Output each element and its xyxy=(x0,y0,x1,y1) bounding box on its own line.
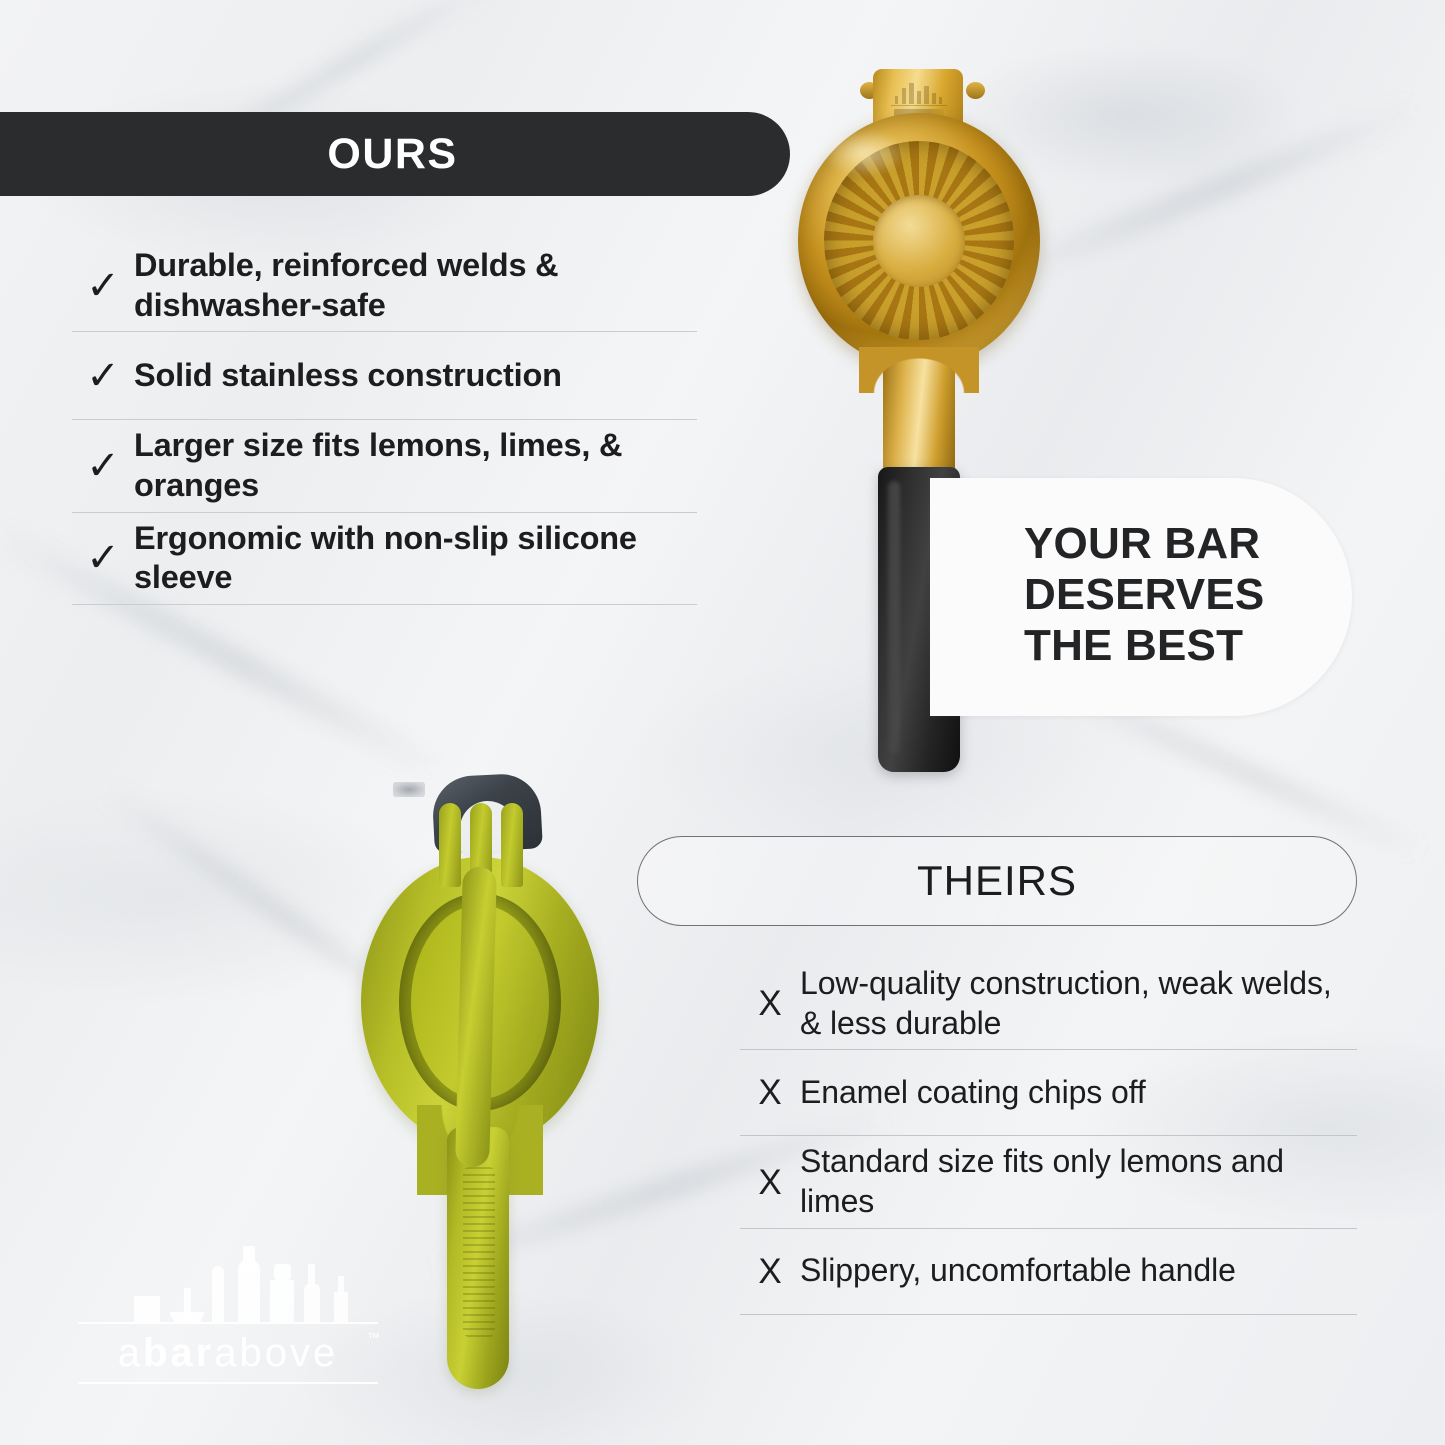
ours-header-banner: OURS xyxy=(0,112,790,196)
list-item: X Standard size fits only lemons and lim… xyxy=(740,1136,1357,1228)
list-item: X Low-quality construction, weak welds, … xyxy=(740,958,1357,1050)
green-lemon-squeezer-image xyxy=(355,775,605,1395)
logo-divider-top xyxy=(78,1322,378,1324)
check-icon: ✓ xyxy=(72,356,134,396)
list-item-label: Standard size fits only lemons and limes xyxy=(800,1142,1357,1221)
tagline-callout-badge: YOUR BAR DESERVES THE BEST xyxy=(930,478,1352,716)
tagline-text: YOUR BAR DESERVES THE BEST xyxy=(1024,518,1264,671)
list-item-label: Slippery, uncomfortable handle xyxy=(800,1251,1236,1291)
list-item-label: Larger size fits lemons, limes, & orange… xyxy=(134,426,697,505)
list-item: X Enamel coating chips off xyxy=(740,1050,1357,1136)
x-icon: X xyxy=(740,1165,800,1200)
hinge-logo-icon xyxy=(393,782,425,797)
check-icon: ✓ xyxy=(72,266,134,306)
tagline-line-3: THE BEST xyxy=(1024,620,1264,671)
tagline-line-2: DESERVES xyxy=(1024,569,1264,620)
list-item-label: Durable, reinforced welds & dishwasher-s… xyxy=(134,246,697,325)
theirs-header-label: THEIRS xyxy=(917,857,1077,905)
ours-header-label: OURS xyxy=(327,130,457,179)
list-item: ✓ Durable, reinforced welds & dishwasher… xyxy=(72,240,697,332)
x-icon: X xyxy=(740,1075,800,1110)
check-icon: ✓ xyxy=(72,538,134,578)
brand-logo: abarabove ™ xyxy=(78,1258,378,1390)
list-item-label: Enamel coating chips off xyxy=(800,1073,1146,1113)
barware-silhouettes-icon xyxy=(78,1258,378,1322)
logo-word-a: a xyxy=(118,1331,143,1375)
logo-wordmark: abarabove xyxy=(78,1328,378,1378)
squeezer-neck xyxy=(883,355,955,485)
hinge-pin-right-icon xyxy=(966,82,985,99)
list-item: ✓ Solid stainless construction xyxy=(72,332,697,420)
product-comparison-infographic: OURS ✓ Durable, reinforced welds & dishw… xyxy=(0,0,1445,1445)
green-handle xyxy=(447,1127,509,1389)
logo-word-bar: bar xyxy=(143,1331,214,1375)
list-item-label: Ergonomic with non-slip silicone sleeve xyxy=(134,519,697,598)
bowl-highlight xyxy=(822,129,906,177)
theirs-drawback-list: X Low-quality construction, weak welds, … xyxy=(740,958,1357,1315)
list-item: X Slippery, uncomfortable handle xyxy=(740,1229,1357,1315)
theirs-header-banner: THEIRS xyxy=(637,836,1357,926)
ours-feature-list: ✓ Durable, reinforced welds & dishwasher… xyxy=(72,240,697,605)
check-icon: ✓ xyxy=(72,446,134,486)
tagline-line-1: YOUR BAR xyxy=(1024,518,1264,569)
etched-brand-logo xyxy=(891,83,947,117)
list-item-label: Solid stainless construction xyxy=(134,356,562,396)
list-item: ✓ Larger size fits lemons, limes, & oran… xyxy=(72,420,697,512)
x-icon: X xyxy=(740,1254,800,1289)
list-item: ✓ Ergonomic with non-slip silicone sleev… xyxy=(72,513,697,605)
logo-divider-bottom xyxy=(78,1382,378,1384)
x-icon: X xyxy=(740,986,800,1021)
trademark-symbol: ™ xyxy=(367,1330,380,1345)
list-item-label: Low-quality construction, weak welds, & … xyxy=(800,964,1357,1043)
logo-word-above: above xyxy=(214,1331,338,1375)
